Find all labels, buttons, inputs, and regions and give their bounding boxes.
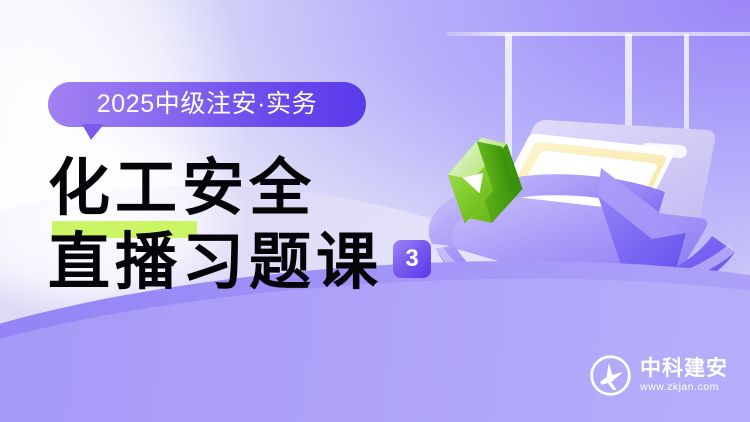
- brand-logo: 中科建安 www.zkjan.com: [590, 355, 728, 396]
- brand-logo-text: 中科建安 www.zkjan.com: [640, 358, 728, 393]
- eyebrow-badge-tail: [82, 124, 104, 140]
- course-banner: 2025中级注安·实务 化工安全 直播习题课 3 中科建安 www.zkjan.…: [0, 0, 750, 422]
- title-line-2-row: 直播习题课 3: [48, 226, 468, 300]
- eyebrow-badge-label: 2025中级注安·实务: [97, 92, 318, 117]
- title-line-1: 化工安全: [48, 152, 468, 226]
- brand-url: www.zkjan.com: [640, 382, 728, 393]
- title-line-2: 直播习题课: [48, 226, 383, 300]
- banner-title: 化工安全 直播习题课 3: [48, 152, 468, 300]
- brand-mark-icon: [590, 355, 631, 396]
- episode-number-badge: 3: [393, 240, 431, 278]
- brand-name: 中科建安: [640, 358, 728, 379]
- eyebrow-badge: 2025中级注安·实务: [48, 82, 366, 127]
